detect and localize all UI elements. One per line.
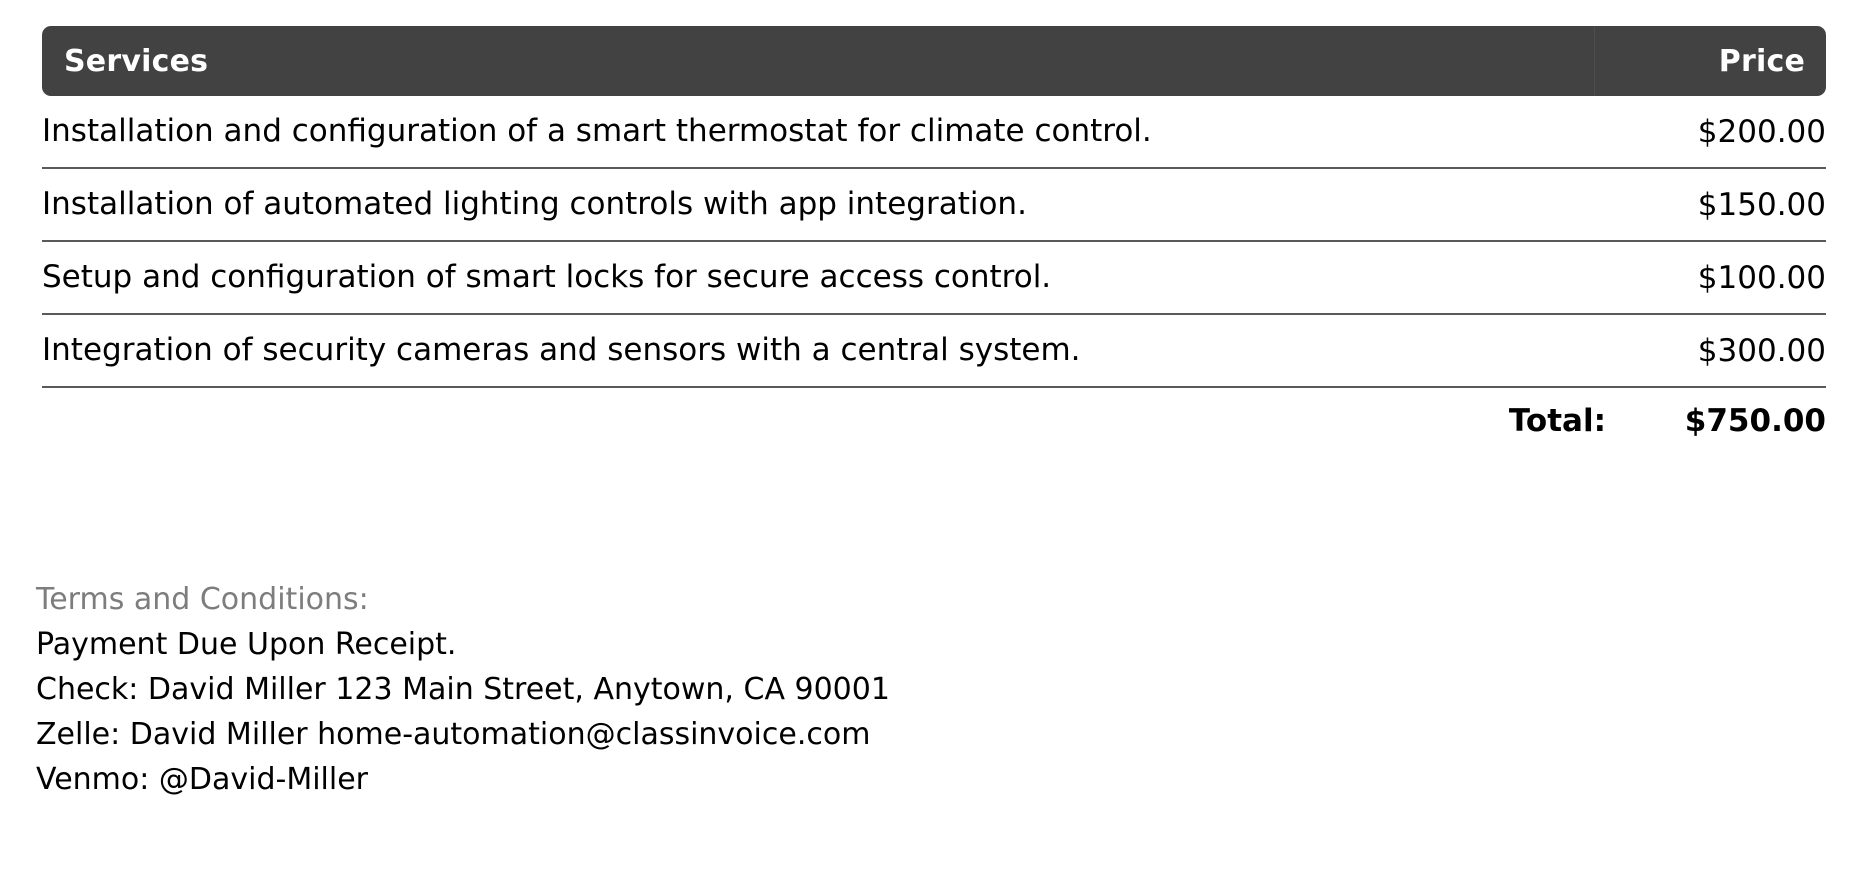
table-header-row: Services Price <box>42 26 1826 96</box>
invoice-services-page: Services Price Installation and configur… <box>0 0 1868 870</box>
column-header-price: Price <box>1595 44 1826 79</box>
service-price: $150.00 <box>1566 187 1826 223</box>
terms-line-check: Check: David Miller 123 Main Street, Any… <box>36 667 1826 712</box>
service-price: $300.00 <box>1566 333 1826 369</box>
terms-heading: Terms and Conditions: <box>36 578 1826 622</box>
service-price: $100.00 <box>1566 260 1826 296</box>
terms-line-zelle: Zelle: David Miller home-automation@clas… <box>36 712 1826 757</box>
terms-line-venmo: Venmo: @David-Miller <box>36 757 1826 802</box>
table-row: Installation and configuration of a smar… <box>42 96 1826 169</box>
service-description: Setup and configuration of smart locks f… <box>42 260 1566 294</box>
table-row: Integration of security cameras and sens… <box>42 315 1826 388</box>
table-row: Installation of automated lighting contr… <box>42 169 1826 242</box>
table-total-row: Total: $750.00 <box>42 388 1826 454</box>
terms-and-conditions-section: Terms and Conditions: Payment Due Upon R… <box>36 578 1826 802</box>
service-price: $200.00 <box>1566 114 1826 150</box>
column-header-services: Services <box>42 44 1594 79</box>
services-table: Services Price Installation and configur… <box>42 26 1826 454</box>
service-description: Installation and configuration of a smar… <box>42 114 1566 148</box>
service-description: Installation of automated lighting contr… <box>42 187 1566 221</box>
table-row: Setup and configuration of smart locks f… <box>42 242 1826 315</box>
terms-line-payment-due: Payment Due Upon Receipt. <box>36 622 1826 667</box>
total-amount: $750.00 <box>1606 403 1826 439</box>
service-description: Integration of security cameras and sens… <box>42 333 1566 367</box>
total-label: Total: <box>1509 403 1606 439</box>
